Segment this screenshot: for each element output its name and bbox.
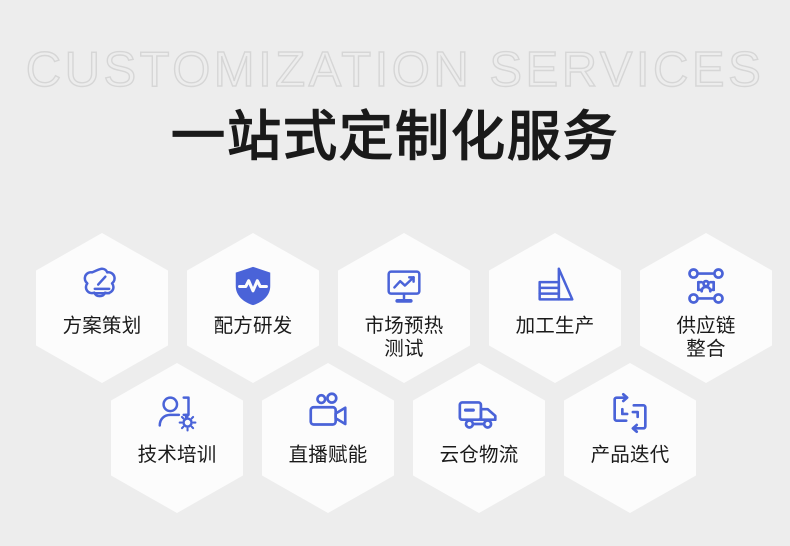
service-card-label: 加工生产 xyxy=(493,315,617,338)
service-card-iteration[interactable]: 产品迭代 xyxy=(564,363,696,513)
service-card-label: 云仓物流 xyxy=(417,444,541,467)
refresh-cycle-icon xyxy=(607,390,653,436)
service-card-plan[interactable]: 方案策划 xyxy=(36,233,168,383)
service-card-label: 供应链 整合 xyxy=(644,315,768,361)
service-card-label: 技术培训 xyxy=(115,444,239,467)
service-card-label: 产品迭代 xyxy=(568,444,692,467)
delivery-truck-icon xyxy=(456,390,502,436)
shield-pulse-icon xyxy=(230,263,276,309)
service-card-livestream[interactable]: 直播赋能 xyxy=(262,363,394,513)
factory-layers-icon xyxy=(532,263,578,309)
service-card-training[interactable]: 技术培训 xyxy=(111,363,243,513)
monitor-chart-icon xyxy=(381,263,427,309)
customization-services-banner: CUSTOMIZATION SERVICES 一站式定制化服务 方案策划 xyxy=(0,0,790,546)
service-card-production[interactable]: 加工生产 xyxy=(489,233,621,383)
service-card-label: 直播赋能 xyxy=(266,444,390,467)
service-card-logistics[interactable]: 云仓物流 xyxy=(413,363,545,513)
service-hex-grid: 方案策划 配方研发 市场预热 测试 xyxy=(0,0,790,546)
plan-cloud-pen-icon xyxy=(79,263,125,309)
service-card-supply-chain[interactable]: 供应链 整合 xyxy=(640,233,772,383)
network-nodes-icon xyxy=(683,263,729,309)
service-card-label: 方案策划 xyxy=(40,315,164,338)
service-card-label: 市场预热 测试 xyxy=(342,315,466,361)
person-gear-icon xyxy=(154,390,200,436)
video-camera-icon xyxy=(305,390,351,436)
service-card-label: 配方研发 xyxy=(191,315,315,338)
service-card-market-test[interactable]: 市场预热 测试 xyxy=(338,233,470,383)
service-card-formula[interactable]: 配方研发 xyxy=(187,233,319,383)
